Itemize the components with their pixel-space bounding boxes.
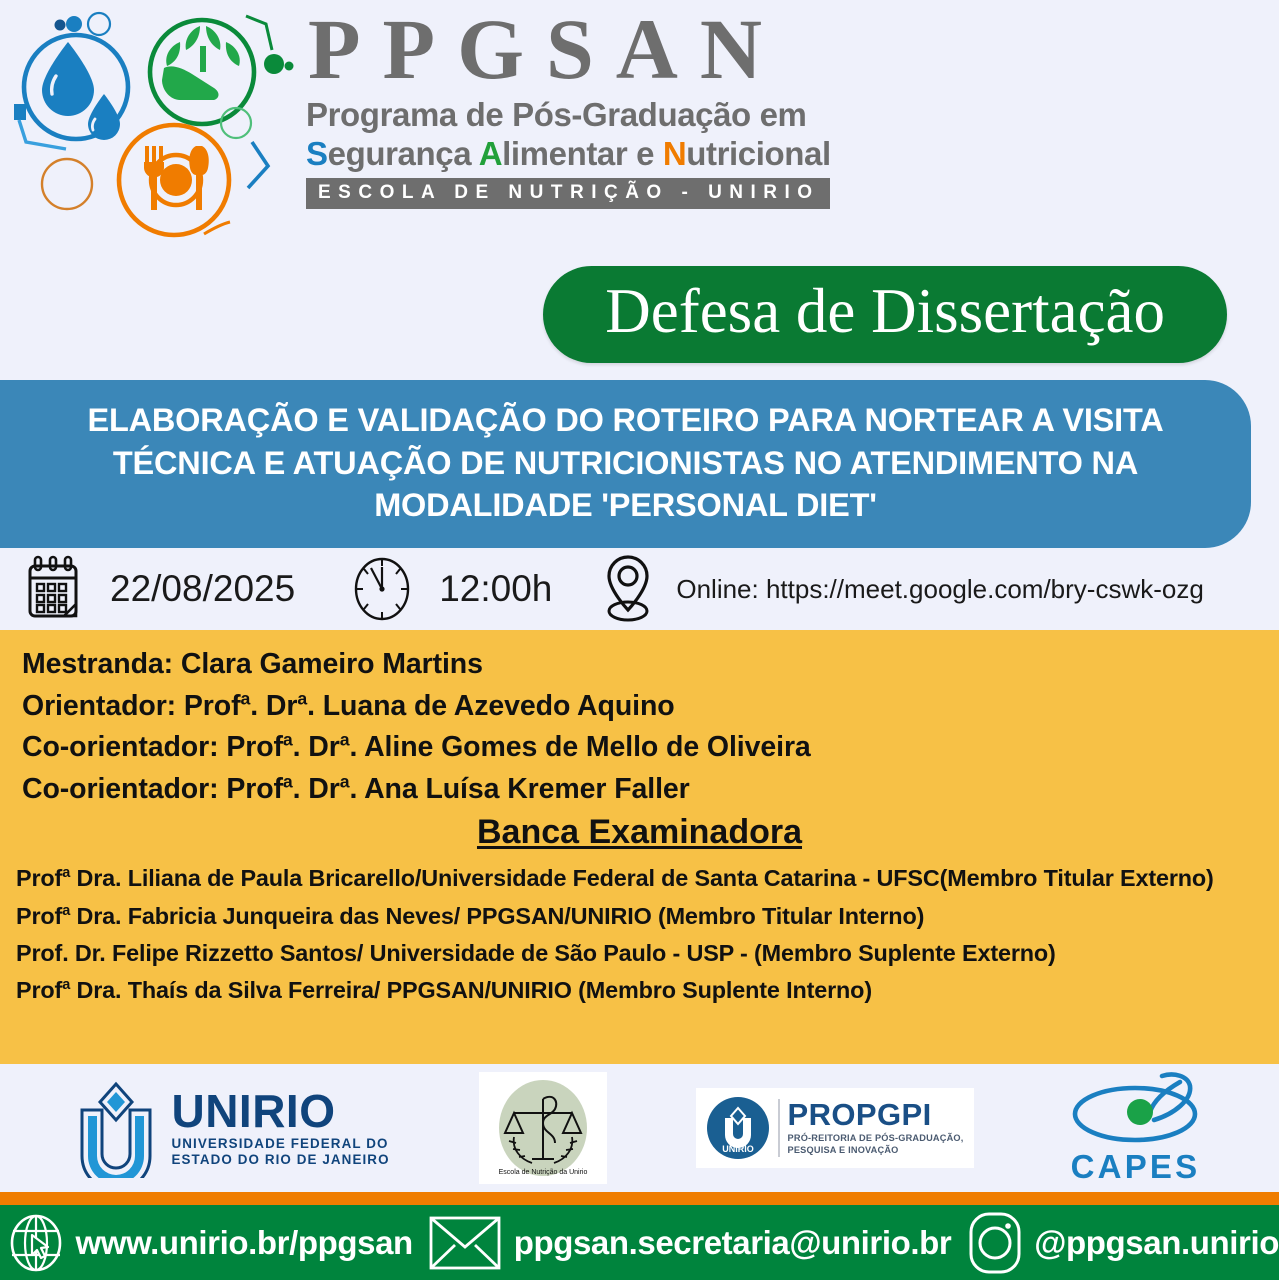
- unirio-name: UNIRIO: [171, 1088, 389, 1134]
- footer-email[interactable]: ppgsan.secretaria@unirio.br: [514, 1224, 952, 1262]
- coadvisor-1-mid: . Dr: [293, 731, 340, 763]
- committee-member-3-prefix: Prof: [16, 940, 62, 966]
- details-panel: Mestranda: Clara Gameiro Martins Orienta…: [0, 630, 1279, 1064]
- student-name: Clara Gameiro Martins: [181, 648, 483, 680]
- decor-dot-1: [55, 20, 66, 31]
- committee-member-4: Profa Dra. Thaís da Silva Ferreira/ PPGS…: [16, 974, 1263, 1007]
- advisor-sup-2: a: [297, 688, 307, 708]
- unirio-subtitle: UNIVERSIDADE FEDERAL DO ESTADO DO RIO DE…: [171, 1136, 389, 1169]
- propgpi-name: PROPGPI: [788, 1099, 964, 1130]
- committee-member-1-sup: a: [62, 866, 70, 882]
- map-pin-icon: [600, 553, 656, 625]
- envelope-icon: [428, 1214, 502, 1272]
- instagram-icon: [967, 1210, 1023, 1276]
- brand-a-initial: A: [479, 135, 502, 172]
- brand-subtitle-line2: Segurança Alimentar e Nutricional: [306, 135, 860, 173]
- advisor-mid: . Dr: [250, 690, 297, 722]
- committee-member-2-prefix: Prof: [16, 903, 62, 929]
- event-info-row: 22/08/2025: [0, 548, 1279, 630]
- coadvisor-2-sup-1: a: [283, 771, 293, 791]
- brand-school-strip: ESCOLA DE NUTRIÇÃO - UNIRIO: [306, 178, 830, 209]
- unirio-emblem-icon: [70, 1078, 162, 1178]
- brand-seguranca: egurança: [328, 135, 479, 172]
- advisor-name: . Luana de Azevedo Aquino: [307, 690, 675, 722]
- thesis-title-line3: MODALIDADE 'PERSONAL DIET': [88, 484, 1164, 527]
- thesis-title-row: ELABORAÇÃO E VALIDAÇÃO DO ROTEIRO PARA N…: [0, 380, 1279, 548]
- defense-banner-label: Defesa de Dissertação: [605, 280, 1165, 343]
- advisor-line: Orientador: Profa. Dra. Luana de Azevedo…: [22, 686, 1263, 728]
- plate-cutlery-icon: [144, 146, 209, 210]
- coadvisor-1-sup-2: a: [340, 730, 350, 750]
- event-location[interactable]: Online: https://meet.google.com/bry-cswk…: [676, 574, 1203, 605]
- propgpi-badge-label: UNIRIO: [722, 1144, 754, 1154]
- hand-plant-icon: [162, 26, 240, 100]
- coadvisor-1-role: Co-orientador: Prof: [22, 731, 283, 763]
- coadvisor-2-line: Co-orientador: Profa. Dra. Ana Luísa Kre…: [22, 769, 1263, 811]
- thesis-title-line1: ELABORAÇÃO E VALIDAÇÃO DO ROTEIRO PARA N…: [88, 399, 1164, 442]
- committee-member-1-text: Dra. Liliana de Paula Bricarello/Univers…: [70, 865, 1214, 891]
- thesis-title-line2: TÉCNICA E ATUAÇÃO DE NUTRICIONISTAS NO A…: [88, 442, 1164, 485]
- decor-dot-4: [285, 62, 294, 71]
- sponsor-logos: UNIRIO UNIVERSIDADE FEDERAL DO ESTADO DO…: [0, 1064, 1279, 1192]
- brand-subtitle-line1: Programa de Pós-Graduação em: [306, 96, 860, 134]
- clock-icon: [349, 554, 415, 624]
- thesis-title: ELABORAÇÃO E VALIDAÇÃO DO ROTEIRO PARA N…: [88, 399, 1164, 527]
- student-line: Mestranda: Clara Gameiro Martins: [22, 644, 1263, 686]
- seal-label: Escola de Nutrição da Unirio: [498, 1169, 587, 1176]
- capes-emblem-icon: [1062, 1070, 1208, 1150]
- committee-member-1: Profa Dra. Liliana de Paula Bricarello/U…: [16, 862, 1263, 895]
- event-date: 22/08/2025: [110, 568, 295, 610]
- coadvisor-2-role: Co-orientador: Prof: [22, 773, 283, 805]
- committee-member-3: Prof. Dr. Felipe Rizzetto Santos/ Univer…: [16, 937, 1263, 970]
- committee-member-1-prefix: Prof: [16, 865, 62, 891]
- propgpi-subtitle-line2: PESQUISA E INOVAÇÃO: [788, 1145, 964, 1157]
- defense-banner-row: Defesa de Dissertação: [0, 248, 1279, 380]
- brand-s-initial: S: [306, 135, 328, 172]
- brand-alimentar: limentar e: [502, 135, 663, 172]
- propgpi-divider: [778, 1099, 780, 1157]
- footer-instagram[interactable]: @ppgsan.unirio: [1034, 1224, 1279, 1262]
- brand-nutricional: utricional: [686, 135, 831, 172]
- propgpi-subtitle: PRÓ-REITORIA DE PÓS-GRADUAÇÃO, PESQUISA …: [788, 1133, 964, 1157]
- calendar-icon: [22, 554, 84, 624]
- unirio-subtitle-line1: UNIVERSIDADE FEDERAL DO: [171, 1136, 389, 1152]
- ppgsan-logo-mark: [4, 2, 304, 242]
- ppgsan-wordmark: PPGSAN Programa de Pós-Graduação em Segu…: [300, 6, 860, 209]
- decor-dot-2: [66, 16, 82, 32]
- defense-banner: Defesa de Dissertação: [543, 266, 1227, 363]
- committee-member-4-text: Dra. Thaís da Silva Ferreira/ PPGSAN/UNI…: [70, 977, 872, 1003]
- coadvisor-2-name: . Ana Luísa Kremer Faller: [350, 773, 690, 805]
- committee-member-2-sup: a: [62, 903, 70, 919]
- committee-heading: Banca Examinadora: [16, 813, 1263, 852]
- event-time: 12:00h: [439, 568, 552, 610]
- committee-member-2: Profa Dra. Fabricia Junqueira das Neves/…: [16, 900, 1263, 933]
- unirio-subtitle-line2: ESTADO DO RIO DE JANEIRO: [171, 1152, 389, 1168]
- unirio-wordmark: UNIRIO UNIVERSIDADE FEDERAL DO ESTADO DO…: [171, 1088, 389, 1169]
- capes-name: CAPES: [1071, 1148, 1201, 1186]
- coadvisor-1-name: . Aline Gomes de Mello de Oliveira: [350, 731, 811, 763]
- decor-square: [14, 104, 26, 120]
- propgpi-badge-icon: UNIRIO: [706, 1096, 770, 1160]
- escola-nutricao-seal: Escola de Nutrição da Unirio: [479, 1072, 607, 1184]
- advisor-sup-1: a: [241, 688, 251, 708]
- capes-logo: CAPES: [1062, 1070, 1208, 1186]
- poster-header: PPGSAN Programa de Pós-Graduação em Segu…: [0, 0, 1279, 248]
- event-date-cell: 22/08/2025: [22, 554, 295, 624]
- poster-root: PPGSAN Programa de Pós-Graduação em Segu…: [0, 0, 1279, 1280]
- propgpi-logo: UNIRIO PROPGPI PRÓ-REITORIA DE PÓS-GRADU…: [696, 1088, 974, 1168]
- committee-member-3-text: . Dr. Felipe Rizzetto Santos/ Universida…: [62, 940, 1056, 966]
- student-role: Mestranda:: [22, 648, 181, 680]
- decor-line-2: [246, 16, 272, 50]
- propgpi-wordmark: PROPGPI PRÓ-REITORIA DE PÓS-GRADUAÇÃO, P…: [788, 1099, 964, 1157]
- committee-member-2-text: Dra. Fabricia Junqueira das Neves/ PPGSA…: [70, 903, 924, 929]
- decor-line-3: [248, 142, 268, 188]
- committee-member-4-prefix: Prof: [16, 977, 62, 1003]
- coadvisor-1-line: Co-orientador: Profa. Dra. Aline Gomes d…: [22, 727, 1263, 769]
- globe-cursor-icon: [8, 1213, 64, 1273]
- unirio-logo: UNIRIO UNIVERSIDADE FEDERAL DO ESTADO DO…: [70, 1078, 389, 1178]
- event-time-cell: 12:00h: [349, 554, 552, 624]
- event-location-cell: Online: https://meet.google.com/bry-cswk…: [600, 553, 1203, 625]
- water-drop-icon: [42, 42, 94, 116]
- coadvisor-1-sup-1: a: [283, 730, 293, 750]
- brand-n-initial: N: [663, 135, 686, 172]
- decor-ring-3: [42, 159, 92, 209]
- thesis-title-box: ELABORAÇÃO E VALIDAÇÃO DO ROTEIRO PARA N…: [0, 380, 1251, 548]
- coadvisor-2-sup-2: a: [340, 771, 350, 791]
- coadvisor-2-mid: . Dr: [293, 773, 340, 805]
- committee-member-4-sup: a: [62, 977, 70, 993]
- decor-ring-1: [88, 13, 110, 35]
- propgpi-subtitle-line1: PRÓ-REITORIA DE PÓS-GRADUAÇÃO,: [788, 1133, 964, 1145]
- contact-footer: www.unirio.br/ppgsan ppgsan.secretaria@u…: [0, 1205, 1279, 1280]
- advisor-role: Orientador: Prof: [22, 690, 241, 722]
- brand-acronym: PPGSAN: [300, 6, 860, 94]
- footer-website[interactable]: www.unirio.br/ppgsan: [76, 1224, 413, 1262]
- decor-dot-3: [264, 54, 284, 74]
- orange-divider-bar: [0, 1192, 1279, 1205]
- water-drop-small-icon: [88, 94, 120, 140]
